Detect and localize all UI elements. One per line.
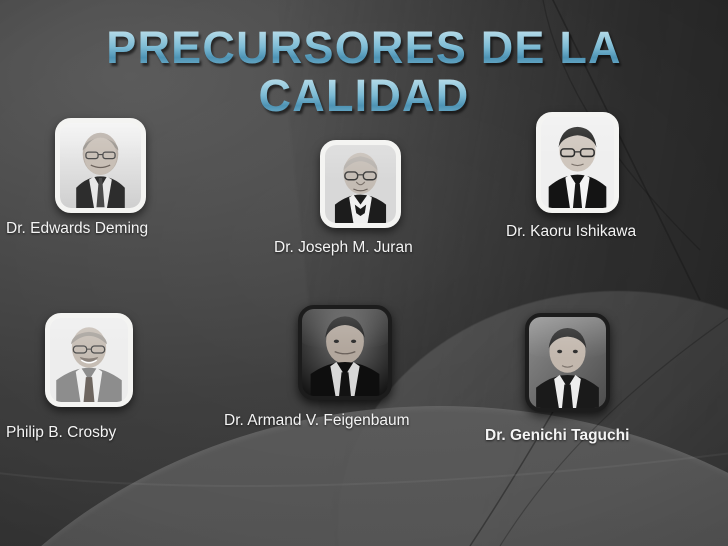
portrait-frame-juran[interactable] [320, 140, 401, 228]
portrait-photo-crosby [50, 318, 128, 402]
portrait-frame-ishikawa[interactable] [536, 112, 619, 213]
slide-title: PRECURSORES DE LA CALIDAD [0, 24, 728, 120]
portrait-photo-juran [325, 145, 396, 223]
portrait-frame-taguchi[interactable] [525, 313, 610, 412]
portrait-frame-deming[interactable] [55, 118, 146, 213]
portrait-photo-deming [60, 123, 141, 208]
caption-deming: Dr. Edwards Deming [6, 220, 148, 238]
caption-taguchi: Dr. Genichi Taguchi [485, 427, 629, 445]
portrait-photo-taguchi [529, 317, 606, 408]
title-line-2: CALIDAD [0, 72, 728, 120]
portrait-frame-feigenbaum[interactable] [298, 305, 392, 400]
presentation-slide: PRECURSORES DE LA CALIDAD [0, 0, 728, 546]
portrait-photo-ishikawa [541, 117, 614, 208]
caption-juran: Dr. Joseph M. Juran [274, 239, 413, 257]
caption-ishikawa: Dr. Kaoru Ishikawa [506, 223, 636, 241]
portrait-photo-feigenbaum [302, 309, 388, 396]
portrait-frame-crosby[interactable] [45, 313, 133, 407]
title-line-1: PRECURSORES DE LA [0, 24, 728, 72]
caption-feigenbaum: Dr. Armand V. Feigenbaum [224, 412, 410, 430]
caption-crosby: Philip B. Crosby [6, 424, 116, 442]
